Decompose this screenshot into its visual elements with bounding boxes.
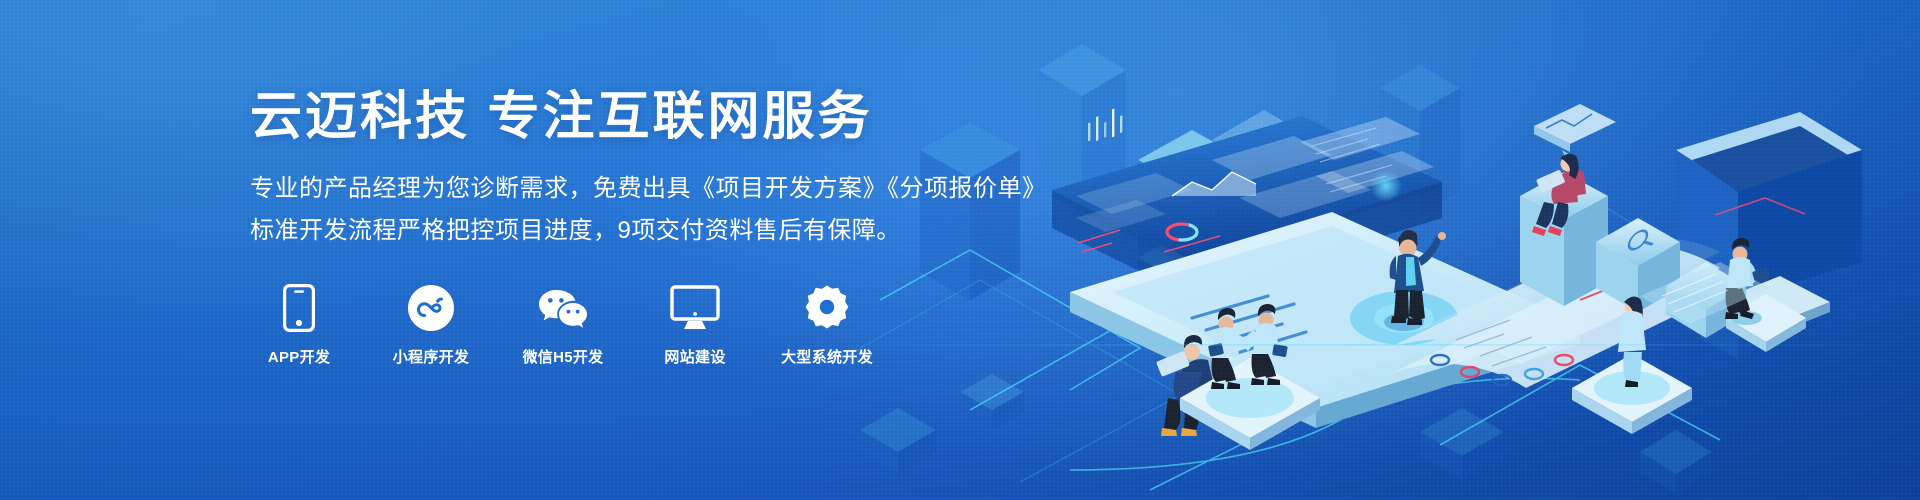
service-label: APP开发 xyxy=(268,346,330,367)
data-chart-panel xyxy=(1380,238,1720,388)
service-item-app[interactable]: APP开发 xyxy=(250,282,348,367)
banner-subtitle: 专业的产品经理为您诊断需求，免费出具《项目开发方案》《分项报价单》 标准开发流程… xyxy=(250,168,1070,251)
pedestal-blocks xyxy=(1520,172,1806,352)
glowing-paths xyxy=(880,230,1720,490)
desk-monitor xyxy=(1676,0,1862,336)
magnifier-block xyxy=(1596,218,1680,312)
service-item-mini-program[interactable]: 小程序开发 xyxy=(382,282,480,367)
page-title: 云迈科技 专注互联网服务 xyxy=(250,88,1070,146)
woman-on-platform xyxy=(1572,0,1770,434)
service-item-large-system[interactable]: 大型系统开发 xyxy=(778,282,876,367)
service-label: 网站建设 xyxy=(664,346,725,367)
hero-banner: 云迈科技 专注互联网服务 专业的产品经理为您诊断需求，免费出具《项目开发方案》《… xyxy=(0,0,1920,500)
dashboard-screen xyxy=(1050,109,1442,296)
service-label: 微信H5开发 xyxy=(523,346,604,367)
seated-person-with-laptop xyxy=(1156,335,1222,436)
monitor-icon xyxy=(670,282,720,334)
standing-person-presenting xyxy=(1384,230,1446,331)
two-people-conversing xyxy=(1180,304,1320,450)
server-stack xyxy=(1138,130,1246,312)
mini-program-icon xyxy=(407,282,455,334)
gear-icon xyxy=(803,282,851,334)
giant-tablet xyxy=(1070,212,1580,428)
service-item-website[interactable]: 网站建设 xyxy=(646,282,744,367)
floating-chart-bubble xyxy=(1534,104,1616,164)
woman-with-laptop-on-pedestal xyxy=(1532,154,1586,236)
service-item-wechat-h5[interactable]: 微信H5开发 xyxy=(514,282,612,367)
subtitle-line-1: 专业的产品经理为您诊断需求，免费出具《项目开发方案》《分项报价单》 xyxy=(250,168,1070,209)
service-label: 大型系统开发 xyxy=(781,346,873,367)
wechat-icon xyxy=(536,282,590,334)
service-label: 小程序开发 xyxy=(393,346,470,367)
man-with-briefcase xyxy=(1725,238,1771,325)
mobile-phone-icon xyxy=(283,282,315,334)
service-list: APP开发 小程序开发 xyxy=(250,282,876,367)
banner-copy: 云迈科技 专注互联网服务 专业的产品经理为您诊断需求，免费出具《项目开发方案》《… xyxy=(250,88,1070,251)
subtitle-line-2: 标准开发流程严格把控项目进度，9项交付资料售后有保障。 xyxy=(250,210,1070,251)
